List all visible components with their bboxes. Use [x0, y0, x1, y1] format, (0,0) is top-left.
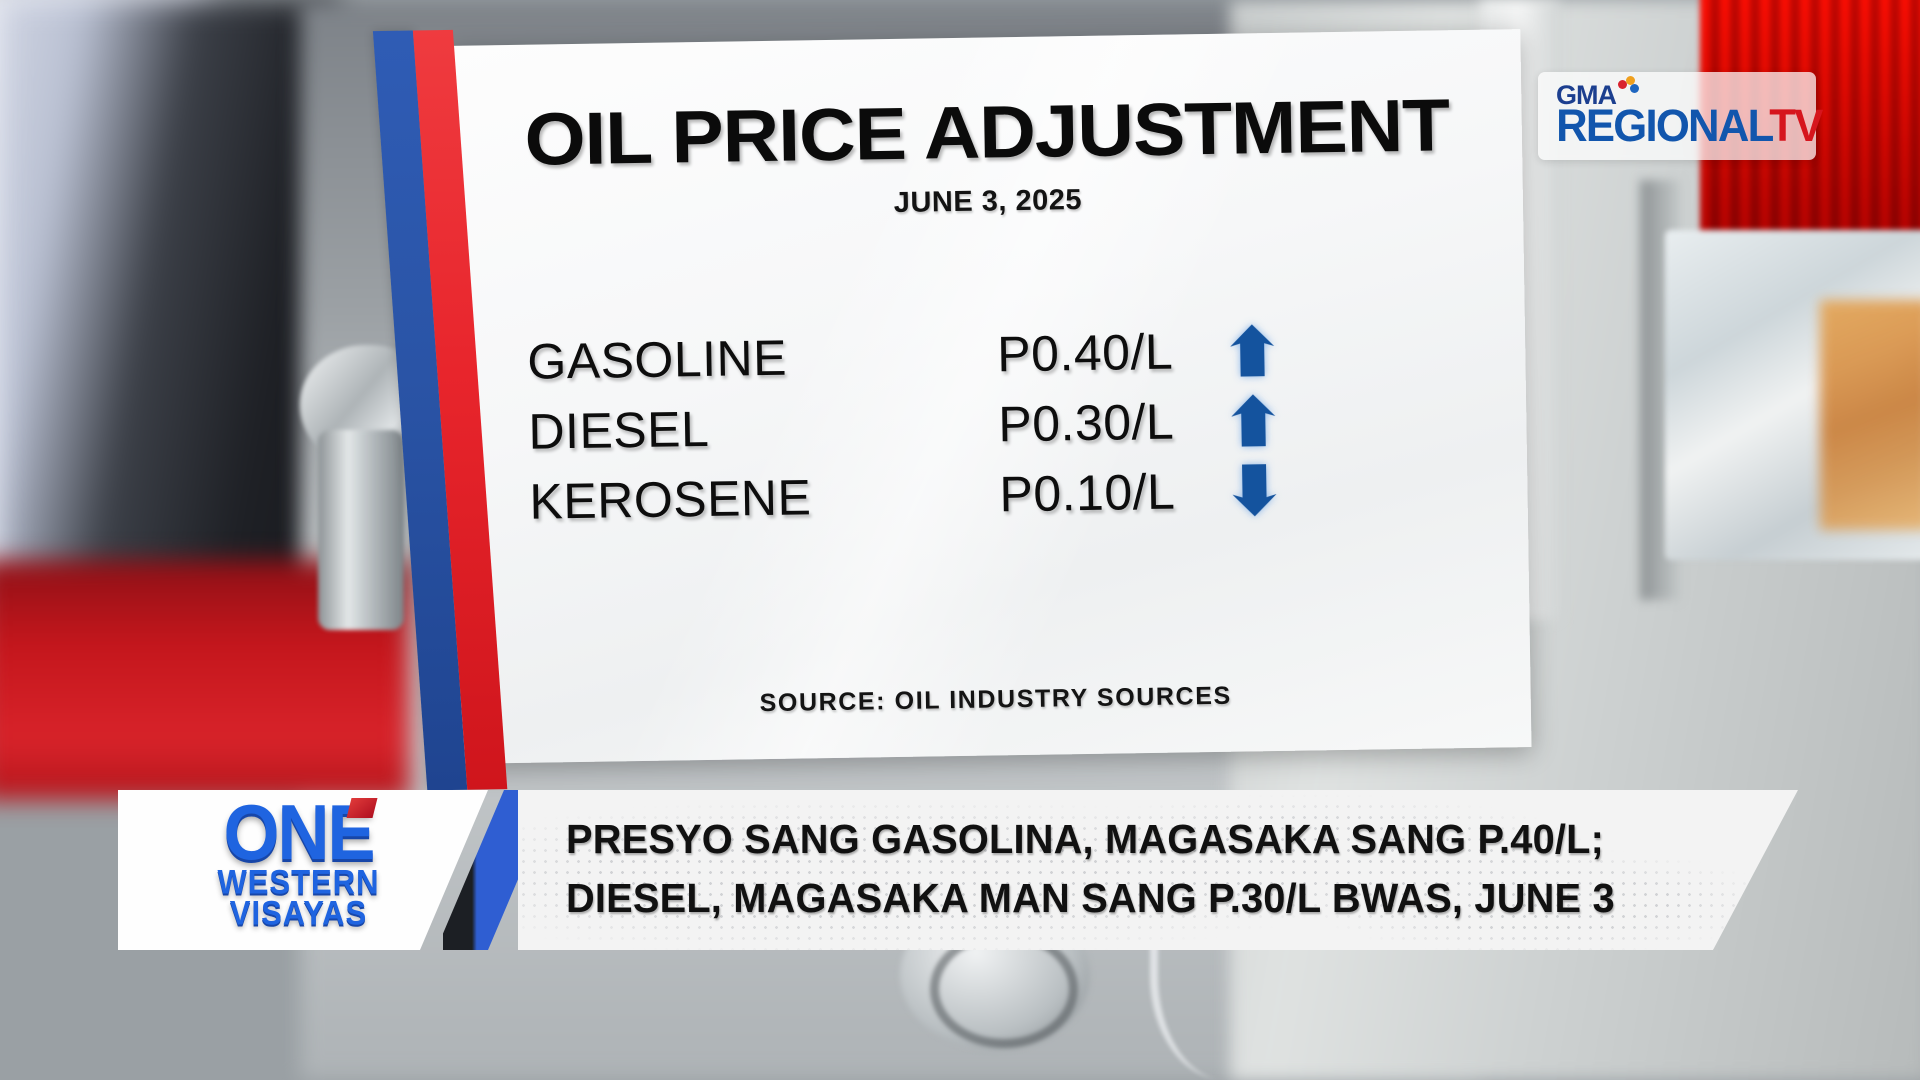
tv-text: TV [1769, 100, 1821, 151]
card-title: OIL PRICE ADJUSTMENT [419, 81, 1554, 184]
price-row-value: P0.10/L [999, 462, 1225, 524]
headline: PRESYO SANG GASOLINA, MAGASAKA SANG P.40… [566, 810, 1746, 928]
headline-line-1: PRESYO SANG GASOLINA, MAGASAKA SANG P.40… [566, 810, 1711, 869]
price-row-label: DIESEL [528, 395, 999, 460]
program-logo-sub-line2: VISAYAS [166, 895, 431, 930]
broadcast-frame: OIL PRICE ADJUSTMENT JUNE 3, 2025 GASOLI… [0, 0, 1920, 1080]
price-rows: GASOLINE P0.40/L DIESEL P0.30/L [527, 312, 1470, 537]
headline-line-2: DIESEL, MAGASAKA MAN SANG P.30/L BWAS, J… [566, 869, 1711, 928]
program-logo-flag-accent [347, 798, 378, 818]
program-logo-plate: ONE WESTERN VISAYAS [118, 790, 488, 950]
lower-third: ONE WESTERN VISAYAS PRESYO SANG GASOLINA… [118, 772, 1798, 952]
arrow-up-icon [1223, 392, 1284, 449]
arrow-up-icon [1222, 322, 1283, 379]
arrow-down-icon [1224, 462, 1285, 519]
price-row-value: P0.30/L [998, 392, 1224, 454]
headline-plate: PRESYO SANG GASOLINA, MAGASAKA SANG P.40… [518, 790, 1798, 950]
price-row-kerosene: KEROSENE P0.10/L [529, 452, 1470, 537]
taillight-amber-lens [1820, 300, 1920, 530]
price-row-label: KEROSENE [529, 465, 1000, 530]
price-row-label: GASOLINE [527, 325, 998, 390]
regional-text: REGIONAL [1556, 100, 1769, 151]
oil-price-card: OIL PRICE ADJUSTMENT JUNE 3, 2025 GASOLI… [378, 38, 1538, 763]
network-logo-bug: GMA REGIONALTV [1538, 72, 1816, 160]
kapuso-heart-icon [1617, 76, 1639, 96]
price-row-value: P0.40/L [997, 322, 1223, 384]
program-logo: ONE WESTERN VISAYAS [166, 800, 431, 928]
regional-tv-wordmark: REGIONALTV [1556, 102, 1821, 150]
